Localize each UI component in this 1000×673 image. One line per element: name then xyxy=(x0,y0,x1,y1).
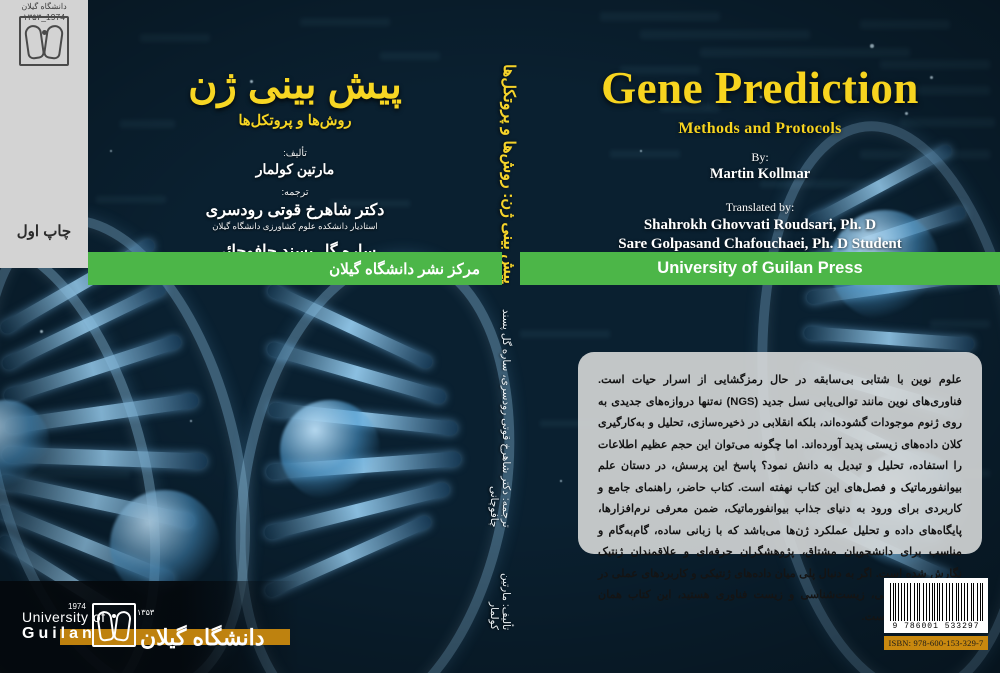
author-name-fa: مارتین کولمار xyxy=(120,161,470,178)
edition-label: چاپ اول xyxy=(0,222,88,240)
barcode-bars xyxy=(890,583,982,621)
front-cover-title-en: Gene Prediction xyxy=(520,62,1000,114)
barcode-image: 9 786001 533297 xyxy=(884,578,988,633)
publisher-band-en: University of Guilan Press xyxy=(520,252,1000,285)
logo-year-fa: ۱۳۵۳ xyxy=(137,608,154,617)
translator-1-name-en: Shahrokh Ghovvati Roudsari, Ph. D xyxy=(520,217,1000,234)
book-cover: دانشگاه گیلان ۱۳۵۳_1974 چاپ اول پیش بینی… xyxy=(0,0,1000,673)
translated-by-label: Translated by: xyxy=(520,200,1000,215)
translator-2-name-en: Sare Golpasand Chafouchaei, Ph. D Studen… xyxy=(520,236,1000,253)
back-cover-blurb: علوم نوین با شتابی بی‌سابقه در حال رمزگش… xyxy=(578,352,982,554)
back-cover-subtitle-fa: روش‌ها و پروتکل‌ها xyxy=(120,113,470,129)
barcode-digits: 9 786001 533297 xyxy=(890,622,982,631)
back-flap-panel: دانشگاه گیلان ۱۳۵۳_1974 چاپ اول xyxy=(0,0,88,268)
guilan-seal-icon xyxy=(18,16,70,82)
flap-logo-fa-label: دانشگاه گیلان xyxy=(0,2,88,11)
spine-author-line: تألیف: مارتین کولمار xyxy=(488,554,512,630)
logo-text-fa: دانشگاه گیلان xyxy=(140,625,265,651)
author-label-fa: تألیف: xyxy=(120,148,470,159)
university-logo-strip: 1974 University of Guilan ۱۳۵۳ دانشگاه گ… xyxy=(0,581,300,673)
publisher-band-en-label: University of Guilan Press xyxy=(657,259,862,278)
isbn-label: ISBN: 978-600-153-329-7 xyxy=(884,636,988,650)
barcode-block: 9 786001 533297 ISBN: 978-600-153-329-7 xyxy=(884,578,988,650)
publisher-band-fa: مرکز نشر دانشگاه گیلان xyxy=(88,252,502,285)
front-cover-translator-block: Translated by: Shahrokh Ghovvati Roudsar… xyxy=(520,200,1000,253)
publisher-band-fa-label: مرکز نشر دانشگاه گیلان xyxy=(329,260,480,278)
translator-1-affiliation-fa: استادیار دانشکده علوم کشاورزی دانشگاه گی… xyxy=(120,221,470,232)
translator-label-fa: ترجمه: xyxy=(120,187,470,198)
author-name-en: Martin Kollmar xyxy=(520,166,1000,183)
front-cover-subtitle-en: Methods and Protocols xyxy=(520,120,1000,138)
front-cover-author-block: By: Martin Kollmar xyxy=(520,150,1000,183)
back-cover-title-fa: پیش بینی ژن xyxy=(120,62,470,108)
translator-1-name-fa: دکتر شاهرخ قوتی رودسری xyxy=(120,200,470,220)
spine-translator-line: ترجمه: دکتر شاهرخ قوتی رودسری، ساره گل پ… xyxy=(488,300,512,528)
by-label: By: xyxy=(520,150,1000,165)
spine-credits: تألیف: مارتین کولمار ترجمه: دکتر شاهرخ ق… xyxy=(482,300,512,630)
guilan-seal-icon-bottom xyxy=(92,603,136,647)
